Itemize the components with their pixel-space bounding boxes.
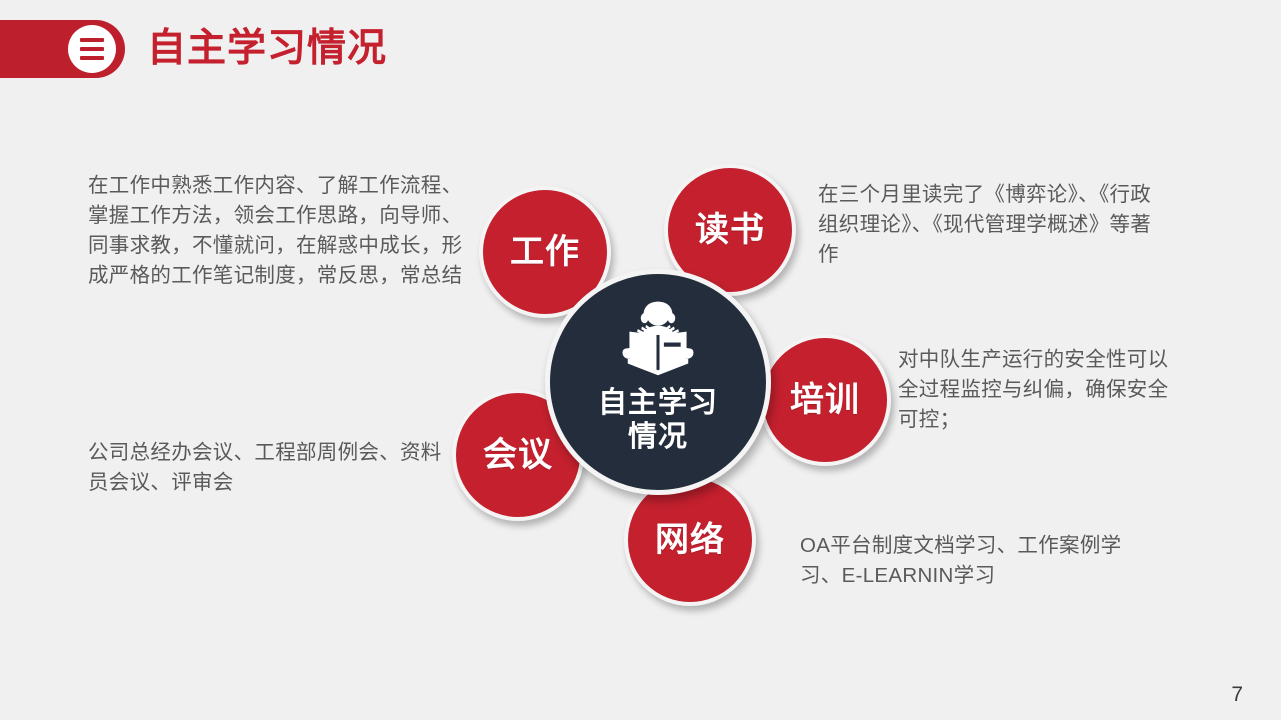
center-label-line-1: 自主学习 xyxy=(598,386,718,420)
center-circle[interactable]: 自主学习 情况 xyxy=(545,269,771,495)
center-label-line-2: 情况 xyxy=(598,420,718,454)
note-training: 对中队生产运行的安全性可以全过程监控与纠偏，确保安全可控； xyxy=(898,345,1188,435)
note-work: 在工作中熟悉工作内容、了解工作流程、掌握工作方法，领会工作思路，向导师、同事求教… xyxy=(88,171,466,291)
note-reading: 在三个月里读完了《博弈论》、《行政组织理论》、《现代管理学概述》等著作 xyxy=(818,180,1168,270)
petal-work-label: 工作 xyxy=(510,235,580,269)
page-title: 自主学习情况 xyxy=(147,26,387,72)
page-number: 7 xyxy=(1231,682,1243,708)
center-circle-label: 自主学习 情况 xyxy=(598,386,718,454)
hamburger-line-3 xyxy=(80,56,104,60)
person-reading-book-icon xyxy=(615,298,701,382)
note-network: OA平台制度文档学习、工作案例学习、E-LEARNIN学习 xyxy=(800,531,1160,591)
petal-network-label: 网络 xyxy=(655,523,725,557)
petal-training[interactable]: 培训 xyxy=(759,334,891,466)
hamburger-line-2 xyxy=(80,47,104,51)
petal-training-label: 培训 xyxy=(790,383,860,417)
petal-meeting-label: 会议 xyxy=(483,438,553,472)
hamburger-line-1 xyxy=(80,38,104,42)
section-number-badge xyxy=(68,25,116,73)
petal-reading-label: 读书 xyxy=(695,213,765,247)
note-meeting: 公司总经办会议、工程部周例会、资料员会议、评审会 xyxy=(88,438,448,498)
